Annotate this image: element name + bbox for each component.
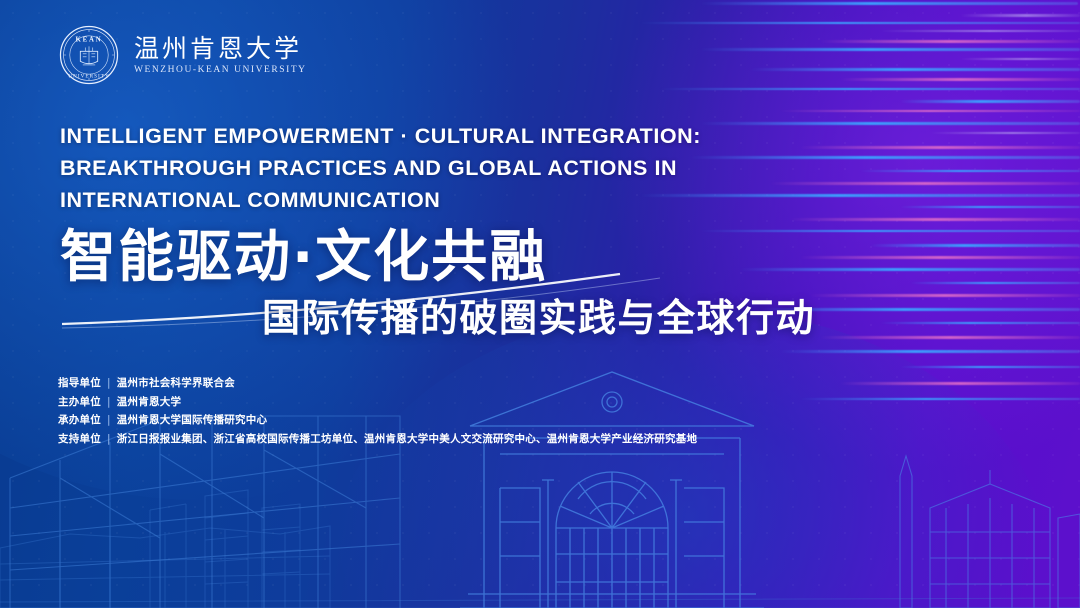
stream-line [640,22,1080,24]
credit-separator: | [107,432,111,446]
credit-label: 承办单位 [58,413,101,427]
stream-line [780,350,1080,353]
conference-title-chinese: 智能驱动·文化共融 国际传播的破圈实践与全球行动 [0,222,1080,342]
credit-value: 浙江日报报业集团、浙江省高校国际传播工坊单位、温州肯恩大学中美人文交流研究中心、… [117,432,698,446]
credit-label: 指导单位 [58,376,101,390]
stream-line [660,88,1080,90]
stream-line [700,122,1080,125]
stream-line [840,382,1080,385]
stream-line [690,156,1080,159]
stream-line [900,366,1080,368]
university-name: 温州肯恩大学 WENZHOU-KEAN UNIVERSITY [134,35,307,76]
headline-main: 智能驱动·文化共融 [60,222,547,294]
stream-line [930,132,1080,134]
stream-line [960,14,1080,17]
credit-row: 主办单位|温州肯恩大学 [58,395,697,409]
credit-separator: | [107,413,111,427]
stream-line [700,2,1078,5]
credit-separator: | [107,376,111,390]
credit-value: 温州肯恩大学 [117,395,182,409]
credit-separator: | [107,395,111,409]
stream-line [880,30,1080,32]
credit-label: 主办单位 [58,395,101,409]
title-en-line-3: INTERNATIONAL COMMUNICATION [60,184,701,216]
stream-line [860,170,1080,172]
headline-sub: 国际传播的破圈实践与全球行动 [262,294,815,342]
stream-line [750,68,1080,71]
university-name-en: WENZHOU-KEAN UNIVERSITY [134,65,307,75]
stream-line [790,218,1080,221]
stream-line [960,58,1080,60]
conference-title-english: INTELLIGENT EMPOWERMENT · CULTURAL INTEG… [60,120,701,216]
stream-line [800,146,1080,149]
stream-line [900,206,1080,208]
organizer-credits: 指导单位|温州市社会科学界联合会主办单位|温州肯恩大学承办单位|温州肯恩大学国际… [58,376,697,446]
background-glow-bottom [330,308,1050,608]
stream-line [800,398,1080,400]
stream-line [640,194,1080,197]
stream-line [700,48,1080,51]
title-en-line-1: INTELLIGENT EMPOWERMENT · CULTURAL INTEG… [60,120,701,152]
credit-row: 支持单位|浙江日报报业集团、浙江省高校国际传播工坊单位、温州肯恩大学中美人文交流… [58,432,697,446]
stream-line [780,110,1080,112]
title-en-line-2: BREAKTHROUGH PRACTICES AND GLOBAL ACTION… [60,152,701,184]
stream-line [900,100,1080,103]
credit-label: 支持单位 [58,432,101,446]
credit-row: 指导单位|温州市社会科学界联合会 [58,376,697,390]
stream-line [770,182,1080,185]
credit-row: 承办单位|温州肯恩大学国际传播研究中心 [58,413,697,427]
stream-line [820,40,1080,43]
kean-university-seal-icon: KEAN UNIVERSITY [58,24,120,86]
credit-value: 温州市社会科学界联合会 [117,376,235,390]
university-name-cn: 温州肯恩大学 [134,35,307,63]
credit-value: 温州肯恩大学国际传播研究中心 [117,413,268,427]
svg-text:KEAN: KEAN [75,36,102,43]
stream-line [840,78,1080,81]
university-branding: KEAN UNIVERSITY 温州肯恩大学 WENZHOU-KEAN UNIV… [58,24,307,86]
conference-banner: KEAN UNIVERSITY 温州肯恩大学 WENZHOU-KEAN UNIV… [0,0,1080,608]
